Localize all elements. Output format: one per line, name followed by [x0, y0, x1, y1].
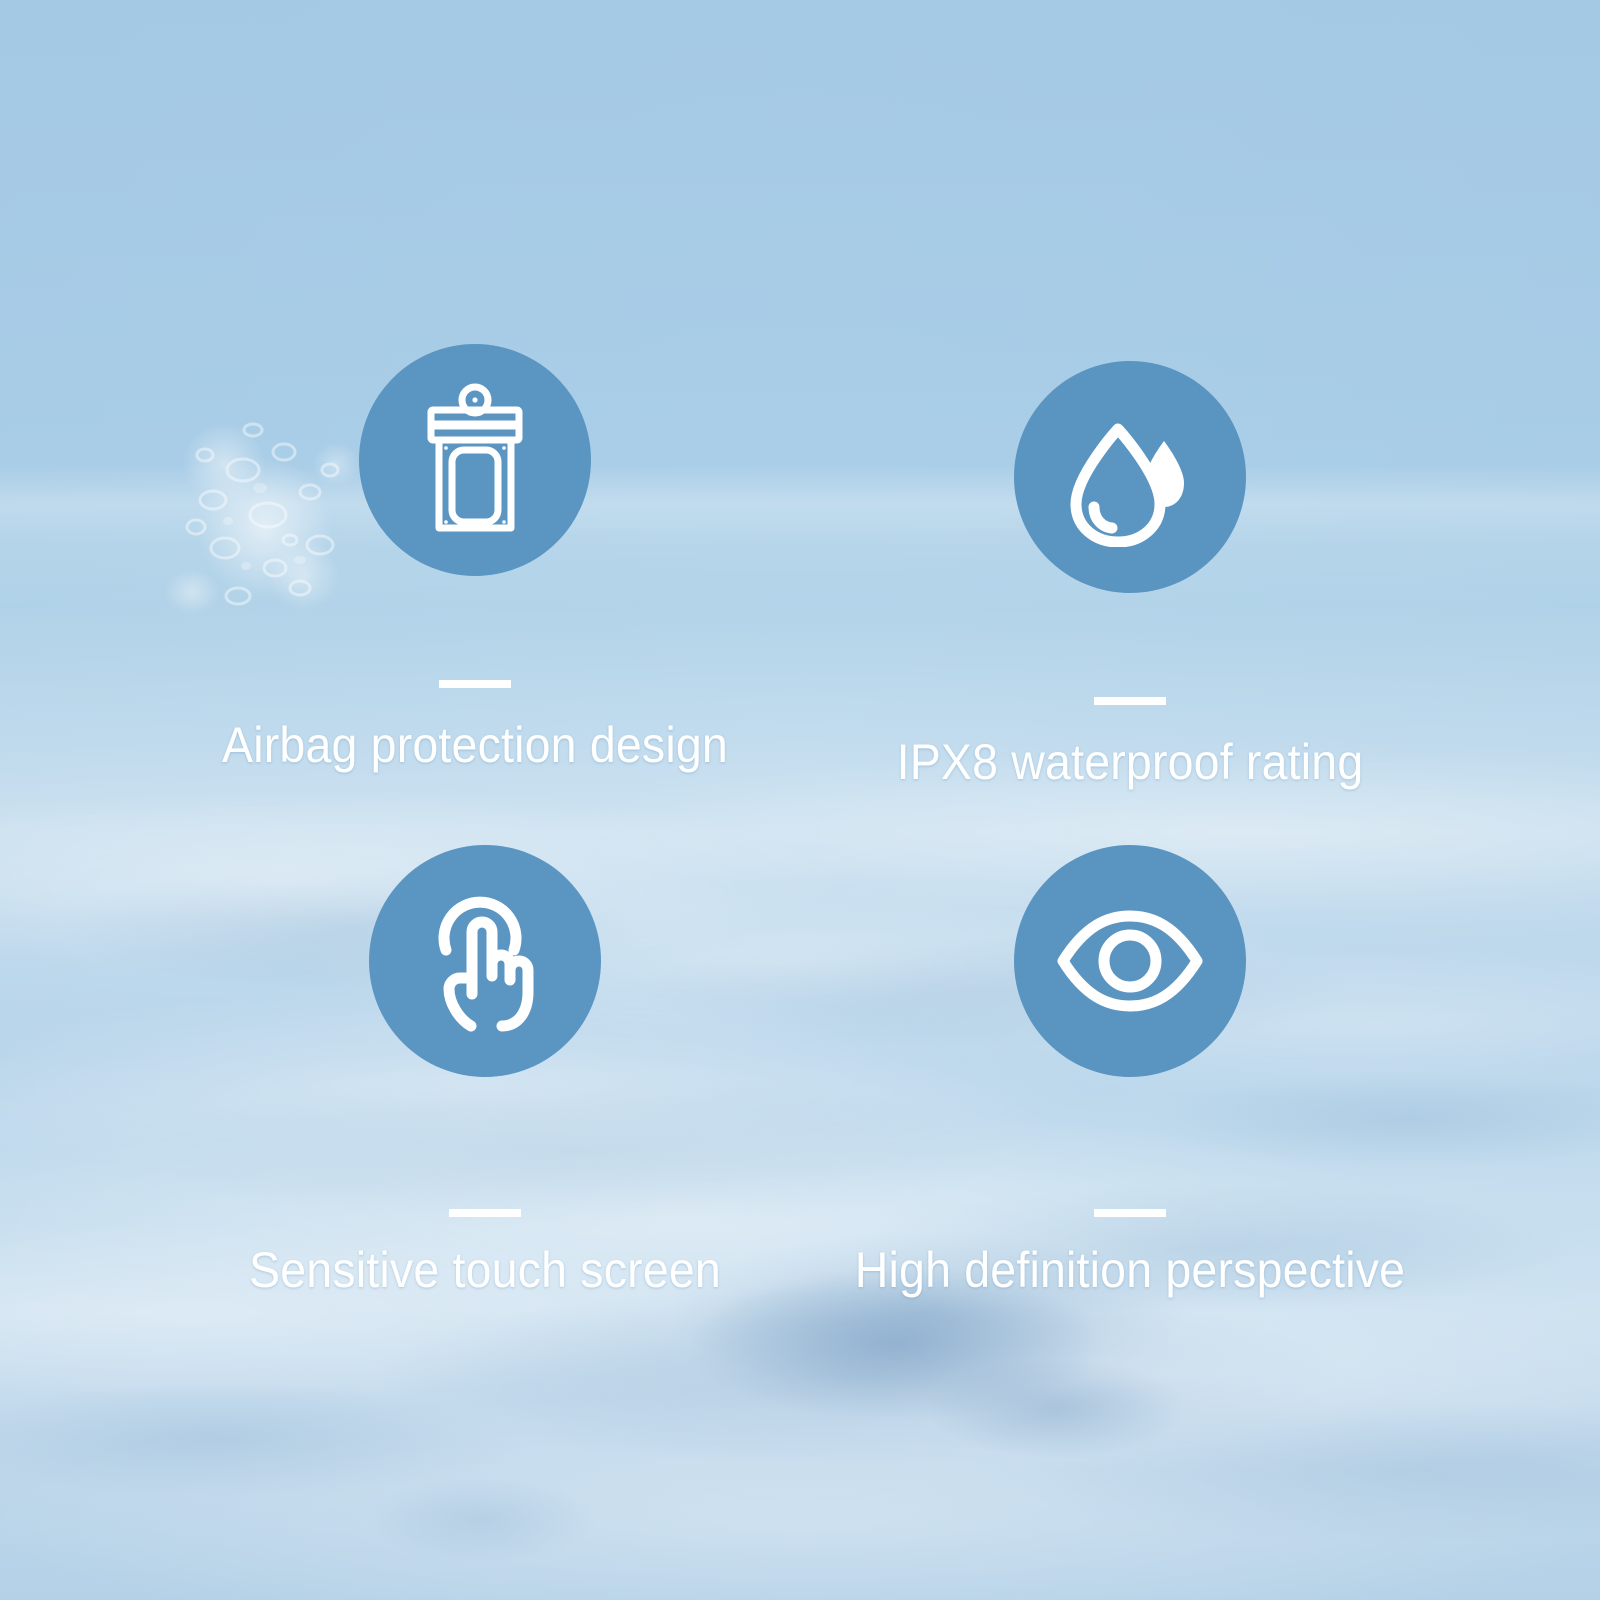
feature-icon-badge [1014, 845, 1246, 1077]
feature-divider [439, 680, 511, 688]
feature-divider [449, 1209, 521, 1217]
touch-finger-icon [420, 886, 550, 1036]
feature-divider [1094, 697, 1166, 705]
feature-item-ipx8-waterproof: IPX8 waterproof rating [810, 361, 1450, 790]
feature-grid: Airbag protection design IPX8 waterproof… [0, 0, 1600, 1600]
waterproof-pouch-icon [411, 380, 539, 540]
feature-divider [1094, 1209, 1166, 1217]
feature-label: High definition perspective [832, 1243, 1427, 1298]
feature-highlight-banner: Airbag protection design IPX8 waterproof… [0, 0, 1600, 1600]
feature-item-touch-screen: Sensitive touch screen [165, 845, 805, 1298]
feature-label: Airbag protection design [177, 718, 772, 773]
feature-icon-badge [369, 845, 601, 1077]
feature-item-airbag-protection: Airbag protection design [155, 344, 795, 773]
feature-label: Sensitive touch screen [187, 1243, 782, 1298]
eye-icon [1055, 906, 1205, 1016]
water-drop-icon [1060, 407, 1200, 547]
feature-icon-badge [1014, 361, 1246, 593]
feature-item-hd-perspective: High definition perspective [810, 845, 1450, 1298]
feature-icon-badge [359, 344, 591, 576]
feature-label: IPX8 waterproof rating [832, 735, 1427, 790]
